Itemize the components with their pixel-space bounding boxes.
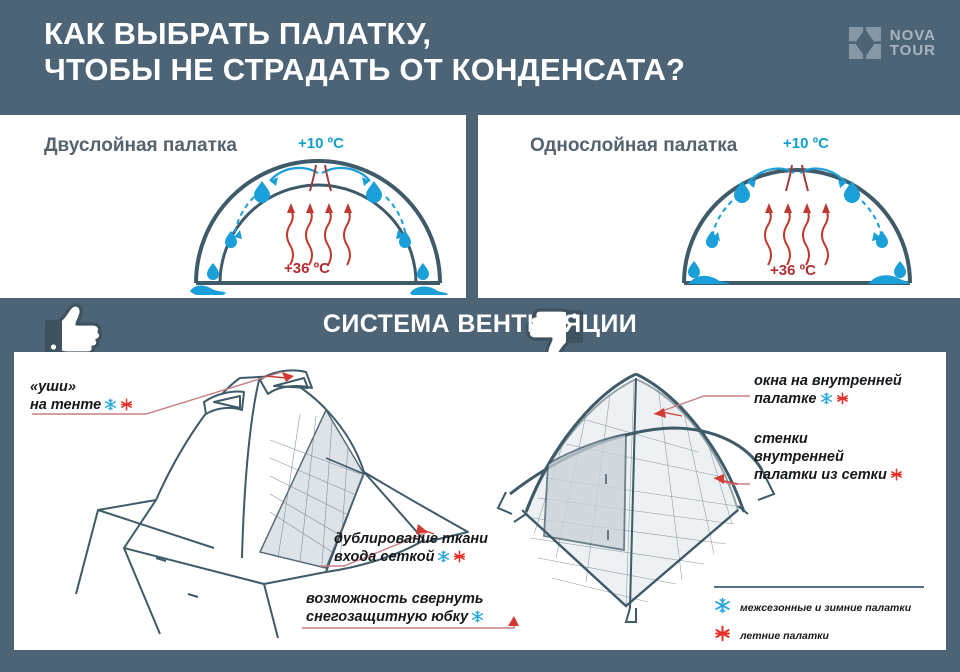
- single-layer-inside-temp: +36 ºC: [770, 262, 816, 279]
- asterisk-icon: [714, 625, 731, 647]
- annotation-inner-windows-line-1: окна на внутренней: [754, 372, 902, 390]
- annotation-snow-skirt-line-1: возможность свернуть: [306, 590, 484, 608]
- logo-line-1: NOVA: [890, 28, 936, 43]
- asterisk-icon: [453, 550, 466, 568]
- annotation-mesh-door-line-2: входа сеткой: [334, 548, 488, 568]
- annotation-ears-line-2: на тенте: [30, 396, 133, 416]
- brand-logo: NOVA TOUR: [848, 26, 936, 60]
- legend-item-summer: летние палатки: [714, 625, 946, 647]
- logo-line-2: TOUR: [890, 43, 936, 58]
- double-layer-outside-temp: +10 ºC: [298, 135, 344, 152]
- page-title: КАК ВЫБРАТЬ ПАЛАТКУ, ЧТОБЫ НЕ СТРАДАТЬ О…: [44, 16, 685, 88]
- snowflake-icon: [437, 550, 450, 568]
- annotation-mesh-door: дублирование ткани входа сеткой: [334, 530, 488, 568]
- infographic-page: КАК ВЫБРАТЬ ПАЛАТКУ, ЧТОБЫ НЕ СТРАДАТЬ О…: [0, 0, 960, 672]
- annotation-mesh-door-line-1: дублирование ткани: [334, 530, 488, 548]
- annotation-ears-line-1: «уши»: [30, 378, 133, 396]
- snowflake-icon: [714, 597, 731, 619]
- single-layer-outside-temp: +10 ºC: [783, 135, 829, 152]
- snowflake-icon: [104, 398, 117, 416]
- asterisk-icon: [836, 392, 849, 410]
- annotation-inner-windows-line-2: палатке: [754, 390, 902, 410]
- section-title: СИСТЕМА ВЕНТИЛЯЦИИ: [323, 310, 637, 339]
- annotation-mesh-walls: стенки внутренней палатки из сетки: [754, 430, 903, 486]
- comparison-section: Двуслойная палатка: [0, 115, 960, 298]
- legend-label-winter: межсезонные и зимние палатки: [740, 602, 911, 614]
- legend-label-summer: летние палатки: [740, 630, 829, 642]
- annotation-snow-skirt: возможность свернуть снегозащитную юбку: [306, 590, 484, 628]
- double-layer-inside-temp: +36 ºC: [284, 260, 330, 277]
- legend-divider: [714, 586, 924, 588]
- asterisk-icon: [890, 468, 903, 486]
- annotation-inner-windows: окна на внутренней палатке: [754, 372, 902, 410]
- annotation-mesh-walls-line-2: внутренней: [754, 448, 903, 466]
- legend: межсезонные и зимние палатки летние пала…: [714, 586, 946, 653]
- snowflake-icon: [820, 392, 833, 410]
- panel-double-layer: Двуслойная палатка: [0, 115, 466, 298]
- annotation-snow-skirt-line-2: снегозащитную юбку: [306, 608, 484, 628]
- asterisk-icon: [120, 398, 133, 416]
- legend-item-winter: межсезонные и зимние палатки: [714, 597, 946, 619]
- pinwheel-star-icon: [848, 26, 882, 60]
- annotation-mesh-walls-line-1: стенки: [754, 430, 903, 448]
- section-band: СИСТЕМА ВЕНТИЛЯЦИИ: [0, 298, 960, 350]
- header: КАК ВЫБРАТЬ ПАЛАТКУ, ЧТОБЫ НЕ СТРАДАТЬ О…: [0, 0, 960, 115]
- annotation-mesh-walls-line-3: палатки из сетки: [754, 466, 903, 486]
- snowflake-icon: [471, 610, 484, 628]
- annotation-ears: «уши» на тенте: [30, 378, 133, 416]
- logo-wordmark: NOVA TOUR: [890, 28, 936, 58]
